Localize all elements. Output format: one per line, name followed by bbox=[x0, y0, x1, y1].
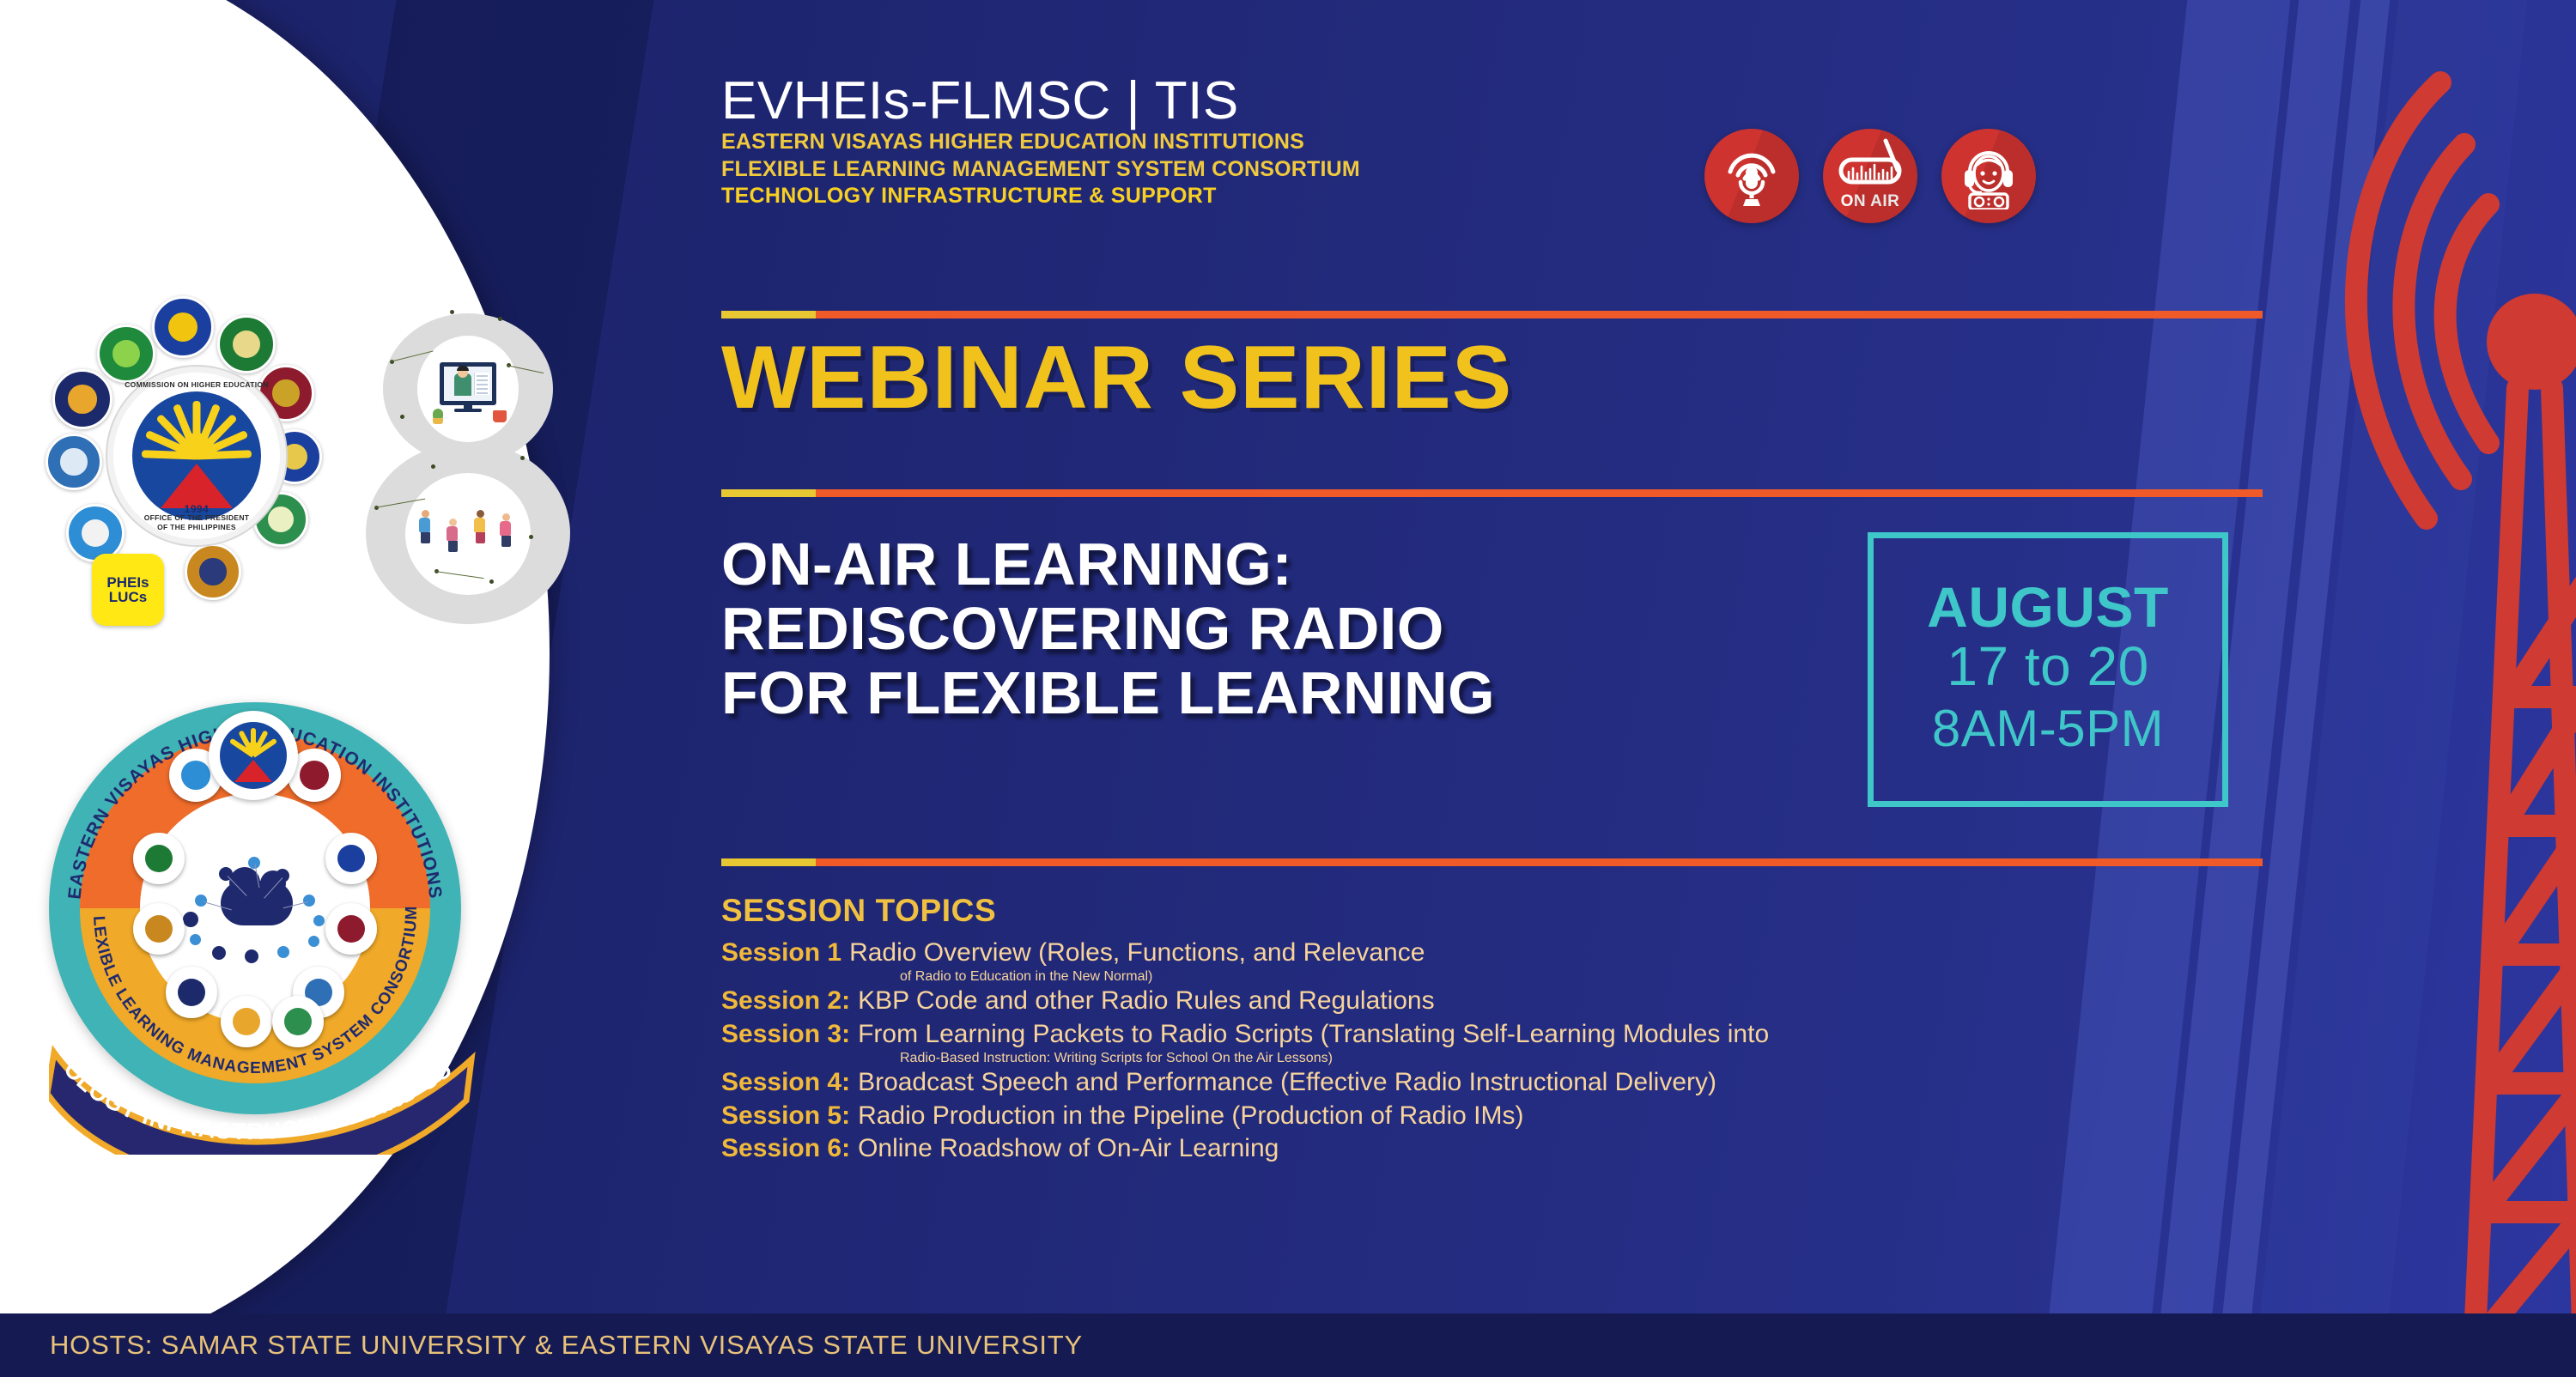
session-topic-label: Session 2: bbox=[721, 985, 850, 1017]
date-month: AUGUST bbox=[1927, 579, 2169, 636]
session-topic-row: Session 4:Broadcast Speech and Performan… bbox=[721, 1066, 2267, 1099]
white-logo-panel bbox=[0, 0, 550, 1365]
number-eight-elearning-graphic bbox=[361, 313, 575, 627]
media-badge-group: ON AIR bbox=[1704, 129, 2036, 223]
brand-subtitle-line2: FLEXIBLE LEARNING MANAGEMENT SYSTEM CONS… bbox=[721, 156, 1666, 184]
divider-bottom bbox=[721, 858, 2263, 866]
headline-line1: ON-AIR LEARNING: bbox=[721, 532, 1838, 597]
divider-middle bbox=[721, 489, 2263, 497]
divider-top bbox=[721, 311, 2263, 318]
podcast-mic-icon bbox=[1704, 129, 1799, 223]
evheis-flmsc-consortium-seal: EASTERN VISAYAS HIGHER EDUCATION INSTITU… bbox=[30, 687, 477, 1133]
ched-seal: 1994 COMMISSION ON HIGHER EDUCATION OFFI… bbox=[107, 367, 286, 545]
session-topic-continuation: of Radio to Education in the New Normal) bbox=[721, 969, 2267, 985]
event-date-box: AUGUST 17 to 20 8AM-5PM bbox=[1868, 532, 2228, 807]
session-topic-text: KBP Code and other Radio Rules and Regul… bbox=[858, 985, 1435, 1017]
learners-illustration bbox=[407, 480, 529, 588]
session-topics-list: Session 1Radio Overview (Roles, Function… bbox=[721, 937, 2267, 1165]
ched-seal-inner: 1994 bbox=[132, 391, 261, 520]
consortium-member-badge bbox=[325, 833, 377, 884]
session-topic-text: Radio Production in the Pipeline (Produc… bbox=[858, 1100, 1523, 1132]
session-topic-label: Session 3: bbox=[721, 1018, 850, 1051]
brand-header: EVHEIs-FLMSC | TIS EASTERN VISAYAS HIGHE… bbox=[721, 73, 1666, 210]
session-topic-label: Session 6: bbox=[721, 1132, 850, 1165]
pheis-line2: LUCs bbox=[109, 590, 147, 604]
poster-canvas: PHEIs LUCs 1994 COMMISSION ON HIGHER EDU… bbox=[0, 0, 2576, 1377]
webinar-series-title: WEBINAR SERIES bbox=[721, 333, 1512, 422]
session-topic-row: Session 3:From Learning Packets to Radio… bbox=[721, 1018, 2267, 1051]
ched-arc-top: COMMISSION ON HIGHER EDUCATION bbox=[113, 380, 280, 389]
seal-university-of-eastern-philippines bbox=[52, 369, 112, 429]
consortium-member-badge bbox=[325, 903, 377, 955]
seal-visayas-state-university bbox=[97, 325, 155, 383]
seal-palompon-institute-of-technology bbox=[46, 434, 102, 490]
hosts-bar: HOSTS: SAMAR STATE UNIVERSITY & EASTERN … bbox=[0, 1313, 2576, 1377]
brand-subtitle-line1: EASTERN VISAYAS HIGHER EDUCATION INSTITU… bbox=[721, 129, 1666, 156]
hosts-text: HOSTS: SAMAR STATE UNIVERSITY & EASTERN … bbox=[50, 1330, 1083, 1361]
hei-logo-cluster: PHEIs LUCs 1994 COMMISSION ON HIGHER EDU… bbox=[21, 296, 365, 635]
consortium-member-badge bbox=[133, 833, 185, 884]
seal-northwest-samar-state-university bbox=[217, 315, 276, 373]
session-topic-label: Session 4: bbox=[721, 1066, 850, 1099]
session-topics-heading: SESSION TOPICS bbox=[721, 893, 2267, 929]
session-topics-section: SESSION TOPICS Session 1Radio Overview (… bbox=[721, 893, 2267, 1165]
brand-subtitle-line3: TECHNOLOGY INFRASTRUCTURE & SUPPORT bbox=[721, 183, 1666, 210]
consortium-ched-seal bbox=[209, 711, 298, 800]
brand-title: EVHEIs-FLMSC | TIS bbox=[721, 73, 1666, 129]
seal-naval-state-university bbox=[185, 543, 241, 600]
headline-line2: REDISCOVERING RADIO bbox=[721, 597, 1838, 661]
session-topic-text: From Learning Packets to Radio Scripts (… bbox=[858, 1018, 1769, 1051]
cloud-network-icon bbox=[181, 855, 329, 958]
online-class-illustration bbox=[417, 343, 519, 425]
date-time: 8AM-5PM bbox=[1932, 700, 2164, 757]
ched-arc-bottom-1: OFFICE OF THE PRESIDENT bbox=[113, 513, 280, 522]
session-topic-continuation: Radio-Based Instruction: Writing Scripts… bbox=[721, 1051, 2267, 1066]
broadcaster-headset-icon bbox=[1941, 129, 2036, 223]
session-topic-row: Session 5:Radio Production in the Pipeli… bbox=[721, 1100, 2267, 1132]
session-topic-row: Session 1Radio Overview (Roles, Function… bbox=[721, 937, 2267, 969]
session-topic-text: Online Roadshow of On-Air Learning bbox=[858, 1132, 1279, 1165]
pheis-lucs-badge: PHEIs LUCs bbox=[92, 554, 164, 626]
date-range: 17 to 20 bbox=[1947, 637, 2148, 696]
headline-line3: FOR FLEXIBLE LEARNING bbox=[721, 661, 1838, 725]
session-topic-label: Session 5: bbox=[721, 1100, 850, 1132]
session-topic-text: Broadcast Speech and Performance (Effect… bbox=[858, 1066, 1716, 1099]
session-topic-label: Session 1 bbox=[721, 937, 841, 969]
radio-on-air-icon: ON AIR bbox=[1823, 129, 1917, 223]
consortium-ribbon: TECHNOLOGY INFRASTRUCTURE AND SUPPORT bbox=[49, 970, 478, 1155]
radio-broadcast-tower-icon bbox=[2215, 0, 2576, 1377]
consortium-member-badge bbox=[133, 903, 185, 955]
ched-arc-bottom-2: OF THE PHILIPPINES bbox=[113, 523, 280, 531]
event-headline: ON-AIR LEARNING: REDISCOVERING RADIO FOR… bbox=[721, 532, 1838, 725]
session-topic-text: Radio Overview (Roles, Functions, and Re… bbox=[849, 937, 1425, 969]
session-topic-row: Session 2:KBP Code and other Radio Rules… bbox=[721, 985, 2267, 1017]
session-topic-row: Session 6:Online Roadshow of On-Air Lear… bbox=[721, 1132, 2267, 1165]
pheis-line1: PHEIs bbox=[106, 575, 149, 590]
seal-biliran-province-state-university bbox=[152, 296, 214, 358]
